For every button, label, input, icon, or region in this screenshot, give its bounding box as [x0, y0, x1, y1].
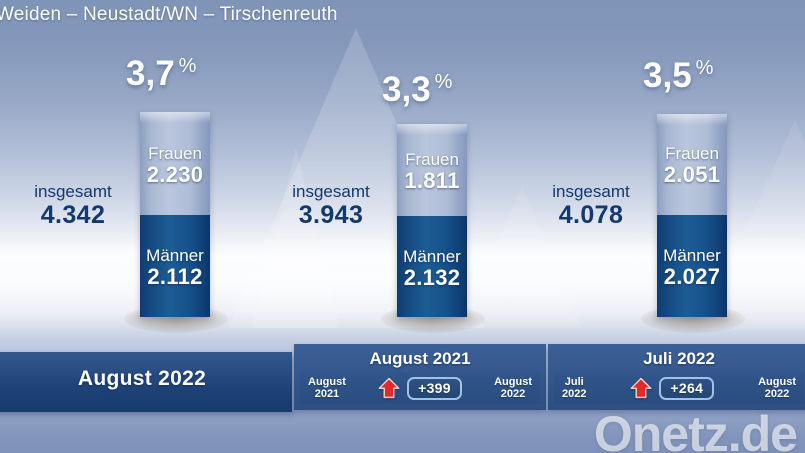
stacked-bar-1: Frauen 2.230 Männer 2.112	[140, 112, 210, 317]
maenner-caption-3: Männer	[657, 247, 727, 265]
comparison-heading-1: August 2021	[294, 349, 546, 369]
comparison-panel-august-2021: August 2021 August 2021 +399 August 2022	[294, 344, 546, 410]
comparison-to-line1-1: August	[494, 376, 532, 388]
comparison-row-2: Juli 2022 +264 August 2022	[554, 372, 804, 404]
total-block-2: insgesamt 3.943	[272, 182, 390, 229]
current-period-panel: August 2022	[0, 352, 292, 412]
mountain-shape-small	[252, 148, 340, 328]
maenner-value-3: 2.027	[657, 265, 727, 288]
total-caption-2: insgesamt	[272, 182, 390, 201]
rate-label-2: 3,3%	[382, 72, 452, 107]
total-block-3: insgesamt 4.078	[532, 182, 650, 229]
maenner-value-1: 2.112	[140, 265, 210, 288]
percent-sign-2: %	[435, 71, 453, 93]
bar-segment-maenner-label-3: Männer 2.027	[657, 247, 727, 288]
frauen-value-1: 2.230	[140, 163, 210, 186]
onetz-watermark-logo: Onetz.de	[594, 409, 797, 453]
frauen-value-2: 1.811	[397, 169, 467, 192]
rate-value-2: 3,3	[382, 70, 431, 109]
comparison-from-line1-2: Juli	[565, 376, 584, 388]
percent-sign-1: %	[179, 55, 197, 77]
bar-segment-frauen-label-2: Frauen 1.811	[397, 151, 467, 192]
frauen-caption-1: Frauen	[140, 145, 210, 163]
comparison-to-line2-2: 2022	[765, 388, 789, 400]
total-value-3: 4.078	[532, 201, 650, 229]
rate-label-3: 3,5%	[643, 58, 713, 93]
comparison-from-line2-1: 2021	[315, 388, 339, 400]
bar-segment-maenner-2: Männer 2.132	[397, 216, 467, 317]
bar-segment-frauen-3: Frauen 2.051	[657, 114, 727, 215]
comparison-to-line1-2: August	[758, 376, 796, 388]
percent-sign-3: %	[696, 57, 714, 79]
maenner-caption-2: Männer	[397, 248, 467, 266]
arrow-up-red-icon	[378, 377, 400, 399]
bar-segment-maenner-label-1: Männer 2.112	[140, 247, 210, 288]
comparison-from-label-1: August 2021	[308, 376, 346, 401]
chart-title: Weiden – Neustadt/WN – Tirschenreuth	[0, 4, 338, 26]
bar-segment-maenner-1: Männer 2.112	[140, 215, 210, 317]
comparison-delta-group-1: +399	[378, 377, 462, 400]
comparison-to-label-2: August 2022	[758, 376, 796, 401]
maenner-caption-1: Männer	[140, 247, 210, 265]
comparison-heading-2: Juli 2022	[548, 349, 805, 369]
bar-segment-maenner-label-2: Männer 2.132	[397, 248, 467, 289]
current-period-label: August 2022	[0, 367, 292, 391]
rate-value-1: 3,7	[126, 54, 175, 93]
bar-segment-frauen-1: Frauen 2.230	[140, 112, 210, 215]
arrow-up-red-icon	[630, 377, 652, 399]
comparison-from-label-2: Juli 2022	[562, 376, 586, 401]
comparison-delta-value-1: +399	[407, 377, 462, 400]
comparison-to-label-1: August 2022	[494, 376, 532, 401]
frauen-caption-3: Frauen	[657, 145, 727, 163]
comparison-delta-value-2: +264	[659, 377, 714, 400]
comparison-from-line2-2: 2022	[562, 388, 586, 400]
frauen-value-3: 2.051	[657, 163, 727, 186]
comparison-panel-juli-2022: Juli 2022 Juli 2022 +264 August 2022	[548, 344, 805, 410]
comparison-from-line1-1: August	[308, 376, 346, 388]
rate-value-3: 3,5	[643, 56, 692, 95]
stacked-bar-3: Frauen 2.051 Männer 2.027	[657, 114, 727, 317]
bar-segment-frauen-2: Frauen 1.811	[397, 124, 467, 216]
infographic-canvas: Weiden – Neustadt/WN – Tirschenreuth 3,7…	[0, 0, 805, 453]
comparison-delta-group-2: +264	[630, 377, 714, 400]
total-caption-1: insgesamt	[14, 182, 132, 201]
bar-segment-maenner-3: Männer 2.027	[657, 215, 727, 317]
bar-segment-frauen-label-1: Frauen 2.230	[140, 145, 210, 186]
stacked-bar-2: Frauen 1.811 Männer 2.132	[397, 124, 467, 317]
comparison-to-line2-1: 2022	[501, 388, 525, 400]
total-value-1: 4.342	[14, 201, 132, 229]
total-block-1: insgesamt 4.342	[14, 182, 132, 229]
maenner-value-2: 2.132	[397, 266, 467, 289]
bar-segment-frauen-label-3: Frauen 2.051	[657, 145, 727, 186]
frauen-caption-2: Frauen	[397, 151, 467, 169]
comparison-row-1: August 2021 +399 August 2022	[300, 372, 540, 404]
total-value-2: 3.943	[272, 201, 390, 229]
total-caption-3: insgesamt	[532, 182, 650, 201]
rate-label-1: 3,7%	[126, 56, 196, 91]
